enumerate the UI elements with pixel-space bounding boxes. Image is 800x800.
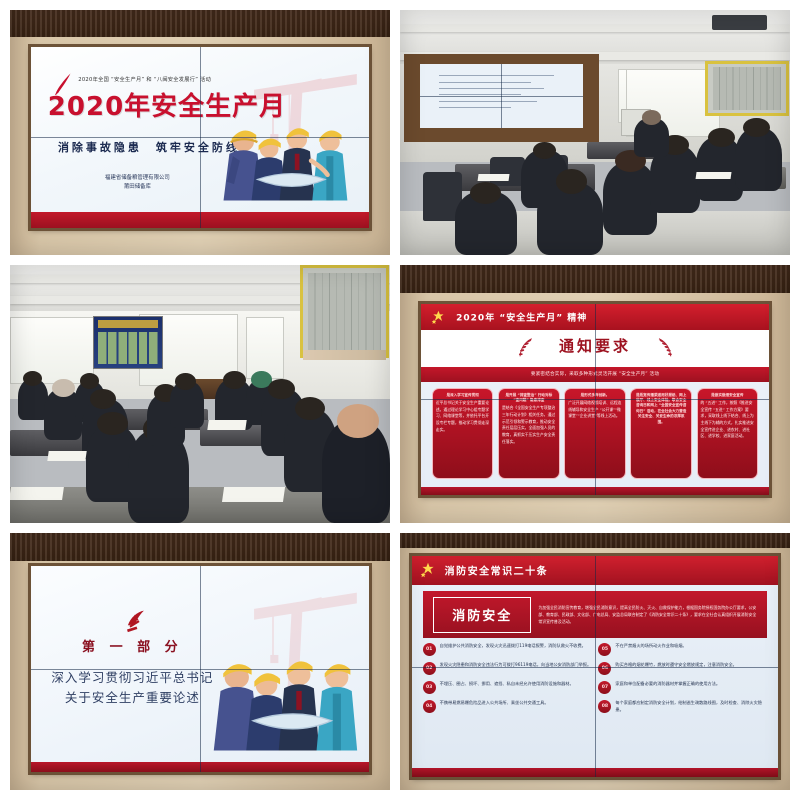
- panel-attendees-seated: [10, 265, 390, 523]
- paper-sheet: [207, 420, 246, 430]
- wall-top-trim: [10, 10, 390, 37]
- item-number: 06: [598, 662, 611, 675]
- room-background: 2020年全国 “安全生产月” 和 “八闽安全发展行” 活动 2020年安全生产…: [10, 10, 390, 255]
- panel-part-one-slide: 第 一 部 分 深入学习贯彻习近平总书记 关于安全生产重要论述: [10, 533, 390, 790]
- paper-sheet: [477, 174, 509, 181]
- wall-top-trim: [400, 533, 790, 548]
- screen-seam-horizontal: [31, 669, 369, 670]
- paper-sheet: [10, 487, 64, 500]
- slide-subtitle: 2020年全国 “安全生产月” 和 “八闽安全发展行” 活动: [78, 76, 335, 83]
- projector: [712, 15, 767, 30]
- title-box: 消防安全: [433, 597, 531, 633]
- knowledge-item: 05 不在严禁烟火的场所动火作业和吸烟。: [598, 642, 767, 656]
- wall-top-trim: [400, 265, 790, 293]
- paper-sheet: [696, 172, 732, 179]
- attendee-head: [556, 169, 587, 194]
- knowledge-item: 08 每个家庭都应制定消防安全计划，绘制逃生疏散路线图，及时检查、消除火灾隐患。: [598, 699, 767, 714]
- workers-illustration-icon: [207, 634, 369, 761]
- party-emblem-icon: [122, 608, 152, 635]
- org-line-1: 福建省储备粮管理有限公司: [61, 174, 213, 183]
- item-number: 08: [598, 700, 611, 713]
- knowledge-item: 04 不携带易燃易爆危险品进入公共场所、乘坐公共交通工具。: [423, 699, 592, 713]
- attendee: [735, 128, 782, 192]
- item-text: 不在严禁烟火的场所动火作业和吸烟。: [615, 642, 767, 650]
- item-number: 05: [598, 643, 611, 656]
- card-body: 近平总书记关于安全生产重要论述。通过理论学习中心组专题学习、网络课堂等，并依托平…: [436, 400, 490, 433]
- window: [246, 317, 284, 379]
- window: [10, 317, 94, 384]
- card-heading: 是做实做细安全宣传: [701, 393, 755, 398]
- screen-seam-horizontal: [420, 96, 584, 97]
- card-body: 的 “五进” 工作，按照《推进安全宣传 “五进” 工作方案》要求，采取线上线下结…: [701, 400, 755, 440]
- attendee-head: [337, 404, 379, 438]
- slide-part-label: 第 一 部 分: [58, 636, 207, 655]
- screen-seam-horizontal: [31, 137, 369, 138]
- honor-board-grid: [713, 67, 782, 110]
- knowledge-item: 06 购买合格的烟花爆竹，燃放时遵守安全燃放规定，注意消防安全。: [598, 661, 767, 675]
- item-text: 家庭和单位配备必要的消防器材并掌握正确的使用方法。: [615, 680, 767, 688]
- workers-illustration-icon: [210, 107, 366, 212]
- display-wall: 消防安全常识二十条 消防安全 为加强全民消防宣传教育，增强全民消防意识，提高全民…: [412, 556, 779, 777]
- item-text: 不携带易燃易爆危险品进入公共场所、乘坐公共交通工具。: [440, 699, 592, 707]
- card-heading: 是拓宽传播渠道用好报纸、网上展厅、线上安全体验。联合安全咨询日和网上 “全国安全…: [634, 393, 688, 425]
- screen-text-line: [439, 107, 511, 108]
- room-background: 消防安全常识二十条 消防安全 为加强全民消防宣传教育，增强全民消防意识，提高全民…: [400, 533, 790, 790]
- knowledge-item: 01 自觉维护公共消防安全，发现火灾迅速拨打119电话报警，消防队救火不收费。: [423, 642, 592, 656]
- room-photo: [400, 10, 790, 255]
- honor-board: [708, 64, 786, 113]
- screen-text-line: [439, 101, 537, 102]
- screen-text-line: [439, 88, 544, 89]
- knowledge-item: 03 不埋压、圈占、损坏、挪用、遮挡、私自未经允许使用消防设施和器材。: [423, 680, 592, 694]
- paper-sheet: [47, 451, 86, 461]
- slide-header-title: 消防安全常识二十条: [445, 563, 549, 578]
- card-heading: 是深入学习宣传贯彻: [436, 393, 490, 398]
- requirement-card: 是开展 “排查整治” 行动对标 “查问题” 隐患排查 是结合《全国安全生产专项整…: [498, 388, 560, 480]
- room-photo: [10, 265, 390, 523]
- bulletin-board-grid: [308, 273, 382, 350]
- panel-notice-requirements: 2020年 “安全生产月” 精神: [400, 265, 790, 523]
- screen-seam-horizontal: [421, 399, 768, 400]
- item-number: 01: [423, 643, 436, 656]
- wall-display-poster: [94, 317, 162, 369]
- attendee-head: [223, 371, 246, 389]
- photo-collage: 2020年全国 “安全生产月” 和 “八闽安全发展行” 活动 2020年安全生产…: [0, 0, 800, 800]
- attendee-head: [295, 397, 325, 420]
- slide-organisation: 福建省储备粮管理有限公司 莆田储备库: [61, 174, 213, 192]
- stars-icon: [417, 562, 439, 578]
- room-background: 第 一 部 分 深入学习贯彻习近平总书记 关于安全生产重要论述: [10, 533, 390, 790]
- card-heading: 是开展 “排查整治” 行动对标 “查问题” 隐患排查: [502, 393, 556, 404]
- item-number: 03: [423, 681, 436, 694]
- wall-top-trim: [10, 533, 390, 561]
- requirement-card: 是做实做细安全宣传 的 “五进” 工作，按照《推进安全宣传 “五进” 工作方案》…: [697, 388, 759, 480]
- attendee-head: [268, 379, 295, 400]
- attendee-head: [52, 379, 75, 397]
- item-number: 02: [423, 662, 436, 675]
- panel-title-slide: 2020年全国 “安全生产月” 和 “八闽安全发展行” 活动 2020年安全生产…: [10, 10, 390, 255]
- screen-seam-horizontal: [412, 667, 779, 668]
- card-body: 是结合《全国安全生产专项整治三年行动计划》相关任务，通过示范引领和警示教育，推动…: [502, 405, 556, 445]
- requirement-card: 是深入学习宣传贯彻 近平总书记关于安全生产重要论述。通过理论学习中心组专题学习、…: [432, 388, 494, 480]
- paper-sheet: [222, 487, 285, 502]
- screen-text-line: [439, 75, 554, 76]
- items-column-left: 01 自觉维护公共消防安全，发现火灾迅速拨打119电话报警，消防队救火不收费。 …: [423, 642, 592, 764]
- poster-photo-grid: [98, 332, 158, 364]
- screen-text-line: [439, 82, 531, 83]
- org-line-2: 莆田储备库: [61, 183, 213, 192]
- item-number: 04: [423, 700, 436, 713]
- display-wall-screen: [420, 64, 584, 128]
- slide-header-title: 2020年 “安全生产月” 精神: [456, 311, 587, 324]
- display-wall: 2020年全国 “安全生产月” 和 “八闽安全发展行” 活动 2020年安全生产…: [31, 47, 369, 228]
- board-lower-trim: [303, 350, 387, 360]
- requirement-card: 是拓宽传播渠道用好报纸、网上展厅、线上安全体验。联合安全咨询日和网上 “全国安全…: [630, 388, 692, 480]
- item-text: 不埋压、圈占、损坏、挪用、遮挡、私自未经允许使用消防设施和器材。: [440, 680, 592, 688]
- office-chair: [490, 157, 525, 186]
- items-column-right: 05 不在严禁烟火的场所动火作业和吸烟。 06 购买合格的烟花爆竹，燃放时遵守安…: [598, 642, 767, 764]
- intro-text: 为加强全民消防宣传教育，增强全民消防意识，提高全民防火、灭火、自救保护能力，根据…: [538, 604, 767, 626]
- title-box-text: 消防安全: [452, 605, 512, 624]
- item-text: 每个家庭都应制定消防安全计划，绘制逃生疏散路线图，及时检查、消除火灾隐患。: [615, 699, 767, 714]
- panel-meeting-room-wide: [400, 10, 790, 255]
- item-number: 07: [598, 681, 611, 694]
- attendee-head: [470, 182, 501, 204]
- room-background: 2020年 “安全生产月” 精神: [400, 265, 790, 523]
- item-text: 自觉维护公共消防安全，发现火灾迅速拨打119电话报警，消防队救火不收费。: [440, 642, 592, 650]
- stars-icon: [428, 310, 449, 325]
- panel-fire-safety-slide: 消防安全常识二十条 消防安全 为加强全民消防宣传教育，增强全民消防意识，提高全民…: [400, 533, 790, 790]
- attendee-head: [97, 412, 127, 435]
- display-wall: 2020年 “安全生产月” 精神: [421, 304, 768, 495]
- slide-line-2: 关于安全生产重要论述: [44, 687, 220, 706]
- poster-title-band: [98, 320, 158, 328]
- bulletin-board: [303, 268, 387, 356]
- knowledge-item: 02 发现火灾隐患和消防安全违法行为可拨打96119电话，向当地公安消防部门举报…: [423, 661, 592, 675]
- display-wall: 第 一 部 分 深入学习贯彻习近平总书记 关于安全生产重要论述: [31, 566, 369, 772]
- knowledge-item: 07 家庭和单位配备必要的消防器材并掌握正确的使用方法。: [598, 680, 767, 694]
- attendee-head: [80, 373, 99, 388]
